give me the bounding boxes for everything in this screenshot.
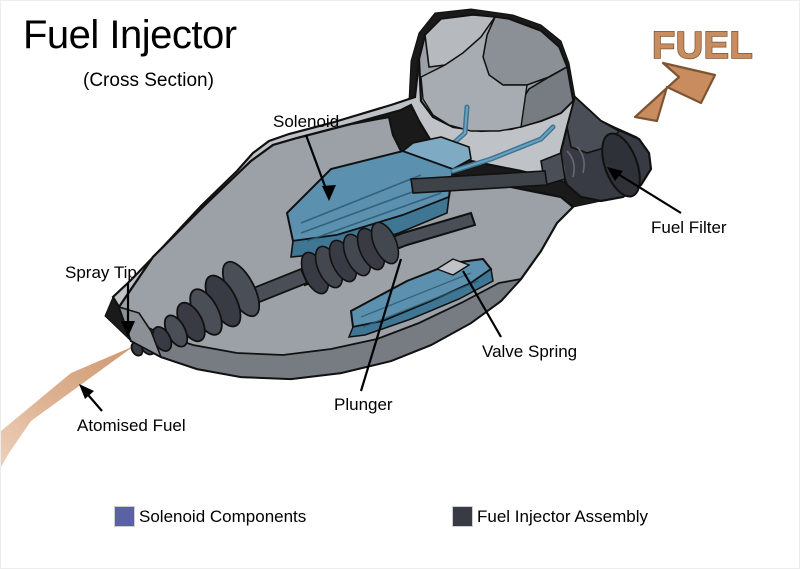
callout-label-fuel-filter: Fuel Filter [651, 219, 727, 236]
callout-label-atomised-fuel: Atomised Fuel [77, 417, 186, 434]
fuel-inlet-arrow [635, 63, 715, 121]
legend-item-label: Solenoid Components [139, 507, 306, 527]
legend: Solenoid Components Fuel Injector Assemb… [1, 506, 800, 540]
callout-label-valve-spring: Valve Spring [482, 343, 577, 360]
legend-item-solenoid-components: Solenoid Components [114, 506, 306, 527]
callout-label-solenoid: Solenoid [273, 113, 339, 130]
callout-label-spray-tip: Spray Tip [65, 264, 137, 281]
fuel-inlet-label: FUEL [652, 27, 753, 65]
callout-label-plunger: Plunger [334, 396, 393, 413]
page-title: Fuel Injector [23, 15, 237, 55]
diagram-page: Fuel Injector (Cross Section) FUEL Solen… [0, 0, 800, 569]
page-subtitle: (Cross Section) [83, 71, 214, 90]
color-swatch-icon [452, 506, 473, 527]
color-swatch-icon [114, 506, 135, 527]
atomised-fuel-spray [1, 346, 134, 467]
legend-item-label: Fuel Injector Assembly [477, 507, 648, 527]
legend-item-fuel-injector-assembly: Fuel Injector Assembly [452, 506, 648, 527]
